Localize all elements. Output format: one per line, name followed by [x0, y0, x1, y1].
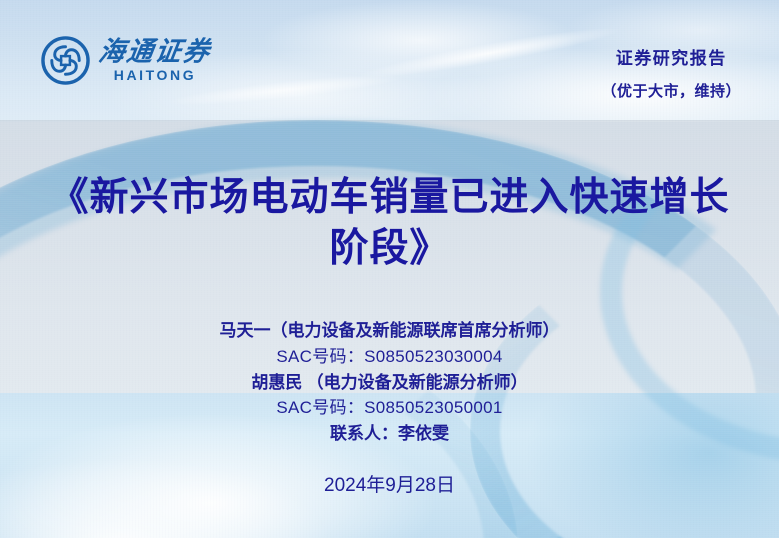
report-rating-label: （优于大市，维持） [601, 80, 741, 101]
report-title: 《新兴市场电动车销量已进入快速增长阶段》 [44, 172, 735, 275]
contact-line: 联系人：李依雯 [0, 421, 779, 447]
report-type-label: 证券研究报告 [601, 44, 741, 69]
report-header-meta: 证券研究报告 （优于大市，维持） [601, 44, 741, 101]
haitong-wordmark: 海通证券 HAITONG [99, 39, 211, 82]
haitong-emblem-icon [41, 36, 90, 85]
report-cover-slide: 海通证券 HAITONG 证券研究报告 （优于大市，维持） 《新兴市场电动车销量… [0, 0, 779, 538]
haitong-name-en: HAITONG [114, 68, 197, 82]
author-line: 马天一（电力设备及新能源联席首席分析师） [0, 318, 779, 344]
author-line: 胡惠民 （电力设备及新能源分析师） [0, 370, 779, 396]
report-date: 2024年9月28日 [0, 470, 779, 497]
author-sac-line: SAC号码：S0850523050001 [0, 395, 779, 421]
haitong-logo: 海通证券 HAITONG [41, 36, 211, 85]
author-sac-line: SAC号码：S0850523030004 [0, 344, 779, 370]
haitong-name-cn: 海通证券 [97, 38, 213, 65]
author-block: 马天一（电力设备及新能源联席首席分析师） SAC号码：S085052303000… [0, 318, 779, 447]
